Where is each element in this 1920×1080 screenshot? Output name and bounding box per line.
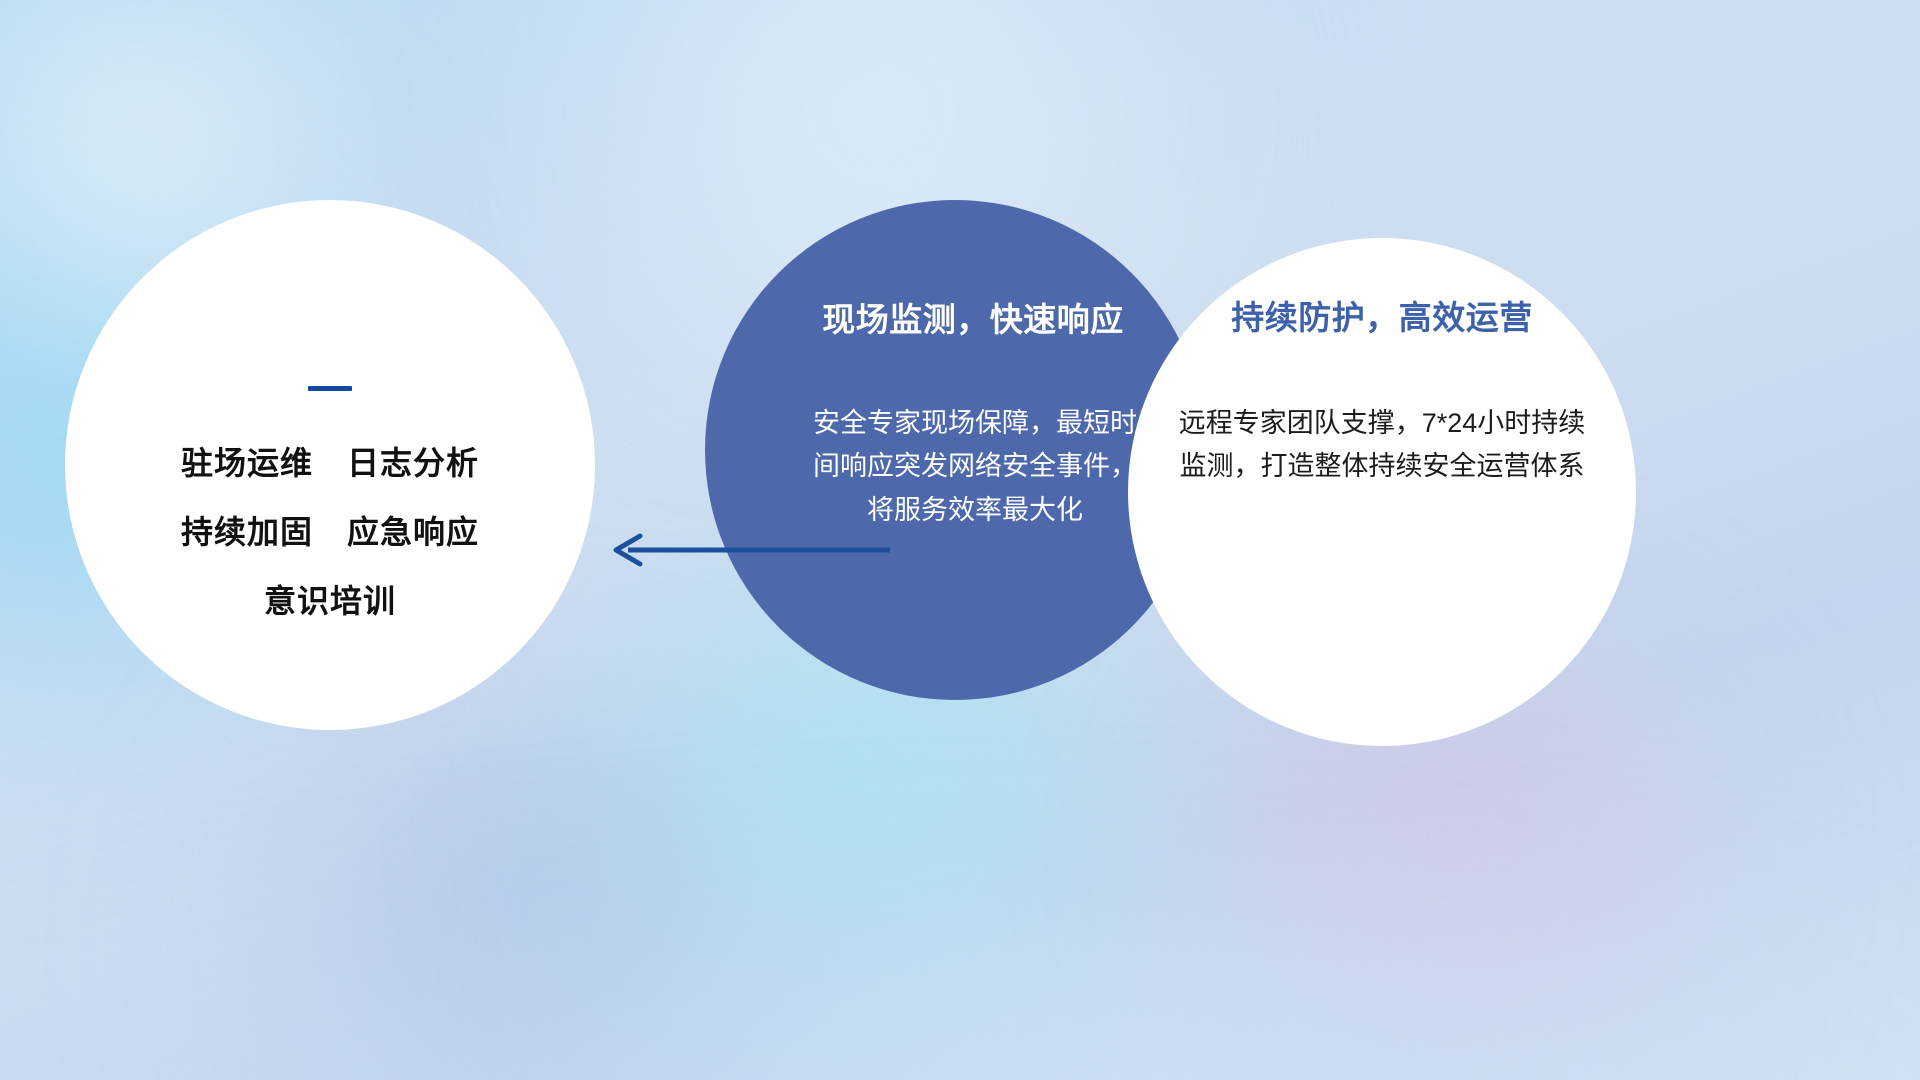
right-circle-title: 持续防护，高效运营 [1231,298,1533,338]
capability-tag: 持续加固 [181,516,313,548]
slide-canvas: 现场监测，快速响应 安全专家现场保障，最短时间响应突发网络安全事件，将服务效率最… [0,0,1920,1080]
middle-circle-title: 现场监测，快速响应 [822,300,1124,340]
capability-tag: 意识培训 [264,585,396,617]
capability-tag: 驻场运维 [181,447,313,479]
right-circle-content: 持续防护，高效运营 远程专家团队支撑，7*24小时持续监测，打造整体持续安全运营… [1128,238,1636,746]
left-circle-row-1: 驻场运维 日志分析 [181,447,479,479]
middle-circle-body: 安全专家现场保障，最短时间响应突发网络安全事件，将服务效率最大化 [810,402,1140,533]
left-circle-row-3: 意识培训 [264,585,396,617]
capability-tag: 应急响应 [347,516,479,548]
right-circle-body: 远程专家团队支撑，7*24小时持续监测，打造整体持续安全运营体系 [1172,402,1592,489]
left-circle-row-2: 持续加固 应急响应 [181,516,479,548]
divider-dash-icon [308,386,352,391]
capability-tag: 日志分析 [347,447,479,479]
left-circle-content: 驻场运维 日志分析 持续加固 应急响应 意识培训 [65,200,595,730]
